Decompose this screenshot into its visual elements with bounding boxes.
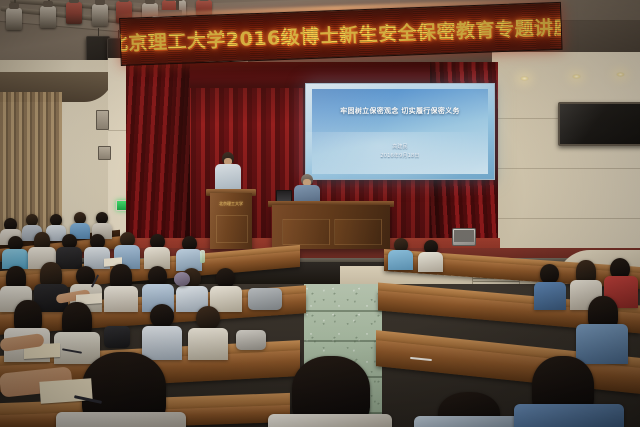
ceiling-downlight — [616, 72, 625, 77]
wall-outlet — [98, 146, 111, 160]
audience-torso — [534, 282, 566, 310]
stage-edge-laptop — [452, 228, 476, 246]
screen-glare — [560, 104, 640, 144]
tote-bag — [236, 330, 266, 350]
stage-spotlight-icon — [6, 8, 22, 30]
audience-torso — [104, 286, 138, 312]
led-banner-text: 北京理工大学2016级博士新生安全保密教育专题讲座 — [119, 12, 562, 56]
presenter-at-podium — [215, 152, 241, 194]
wall-seam — [492, 218, 640, 219]
wall-right — [492, 52, 640, 277]
backpack — [248, 288, 282, 310]
audience-torso — [54, 332, 100, 364]
audience-head — [150, 304, 174, 328]
head-table-panel — [334, 219, 382, 245]
aisle-step — [304, 310, 382, 312]
shoulder-bag — [104, 326, 130, 348]
podium-crest-text: 北京理工大学 — [210, 201, 252, 207]
head-table — [272, 205, 390, 249]
ceiling-downlight — [520, 76, 529, 81]
stage-spotlight-icon — [40, 6, 56, 28]
audience-head-cap — [174, 272, 190, 286]
audience-torso — [388, 250, 413, 270]
lecture-hall-photo: 牢固树立保密观念 切实履行保密义务 高建民 2016年9月18日 北京理工大学2… — [0, 0, 640, 427]
foreground-audience-torso — [514, 404, 624, 427]
audience-torso — [576, 324, 628, 364]
aisle-step — [304, 340, 382, 342]
audience-torso — [188, 328, 228, 360]
audience-torso — [418, 252, 443, 272]
podium-panel — [216, 215, 248, 243]
speaker-podium: 北京理工大学 — [210, 193, 252, 249]
foreground-audience-torso — [56, 412, 186, 427]
wall-monitor-right — [558, 102, 640, 146]
audience-head — [196, 306, 220, 330]
audience-head — [216, 268, 235, 288]
foreground-audience-torso — [414, 416, 524, 427]
stage-spotlight-icon — [66, 2, 82, 24]
wall-seam — [492, 168, 640, 169]
audience-head — [148, 266, 167, 286]
wall-control-panel[interactable] — [96, 110, 109, 130]
projection-screen: 牢固树立保密观念 切实履行保密义务 高建民 2016年9月18日 — [305, 83, 495, 180]
screen-glare — [306, 84, 494, 179]
head-table-panel — [282, 219, 330, 245]
foreground-audience-torso — [268, 414, 392, 427]
audience-torso — [142, 326, 182, 360]
audience-head — [540, 264, 559, 284]
water-bottle — [200, 250, 205, 263]
ceiling-downlight — [572, 74, 581, 79]
